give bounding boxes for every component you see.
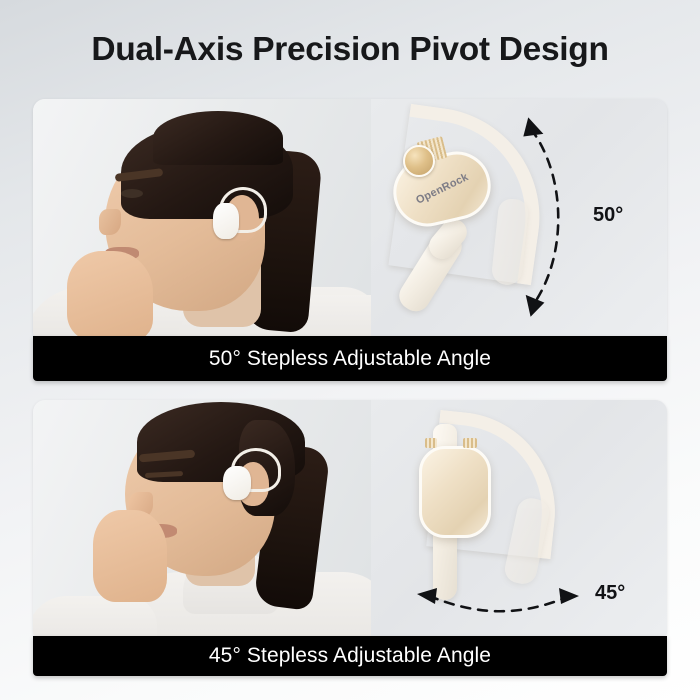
angle-label-45: 45° [595, 582, 625, 605]
worn-earbud-speaker [213, 203, 239, 239]
photo-nose [99, 209, 121, 235]
photo-eye [121, 189, 143, 198]
product-speaker-housing [419, 446, 491, 538]
angle-arc-50 [511, 107, 591, 327]
photo-hair-top [153, 111, 283, 165]
hinge-ribs [425, 438, 437, 448]
worn-earbud-speaker [223, 466, 251, 500]
product-stage: OpenRock 50° [371, 99, 667, 336]
hinge-ribs-right [463, 438, 477, 448]
photo-hand [93, 510, 167, 602]
feature-panel-45: 45° 45° Stepless Adjustable Angle [33, 400, 667, 676]
panel-caption-50: 50° Stepless Adjustable Angle [33, 336, 667, 381]
product-stage: 45° [371, 400, 667, 636]
page-title: Dual-Axis Precision Pivot Design [0, 31, 700, 69]
pivot-hinge-gold [403, 145, 435, 177]
lifestyle-photo-frontal [33, 400, 371, 636]
feature-panel-50: OpenRock 50° 50° Stepless Adjustable Ang… [33, 99, 667, 381]
product-render-front: 45° [371, 400, 667, 636]
panel-caption-45: 45° Stepless Adjustable Angle [33, 636, 667, 676]
product-render-side: OpenRock 50° [371, 99, 667, 336]
photo-sleeve [33, 596, 157, 636]
angle-arc-45 [409, 582, 589, 630]
photo-hand [67, 251, 153, 336]
panel-media-row: OpenRock 50° [33, 99, 667, 336]
lifestyle-photo-profile [33, 99, 371, 336]
angle-label-50: 50° [593, 204, 623, 227]
panel-media-row: 45° [33, 400, 667, 636]
